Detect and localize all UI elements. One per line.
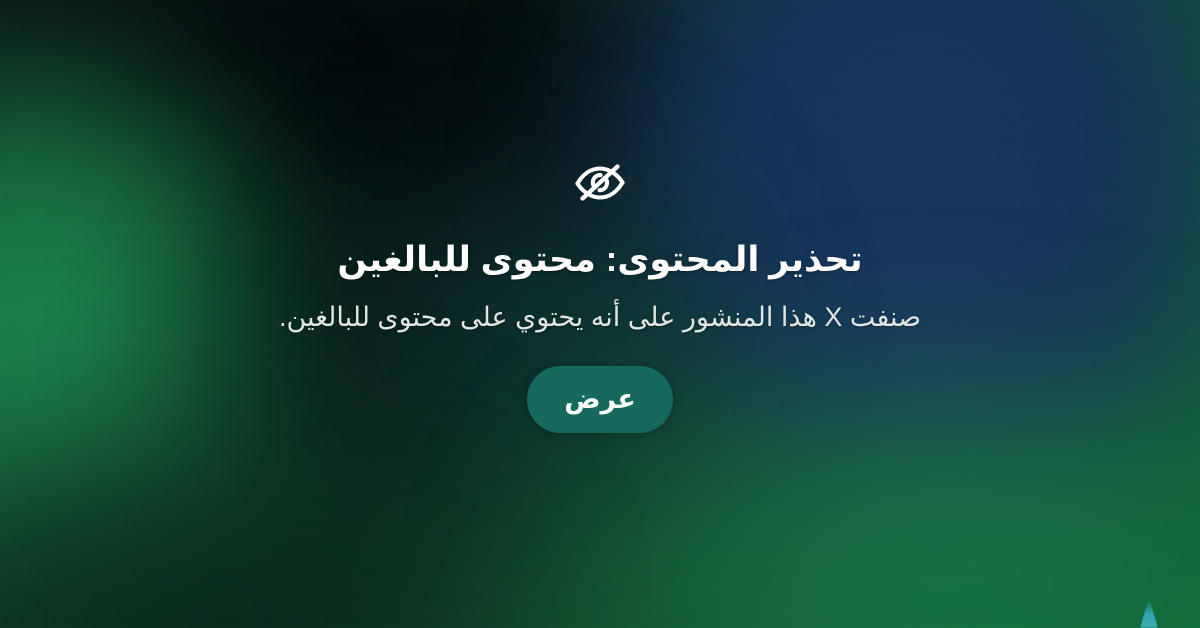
eye-off-icon	[571, 158, 629, 208]
content-warning-subtitle: صنفت X هذا المنشور على أنه يحتوي على محت…	[279, 300, 921, 335]
content-warning-overlay: تحذير المحتوى: محتوى للبالغين صنفت X هذا…	[0, 0, 1200, 628]
view-content-button[interactable]: عرض	[527, 366, 673, 433]
content-warning-title: تحذير المحتوى: محتوى للبالغين	[337, 238, 862, 282]
